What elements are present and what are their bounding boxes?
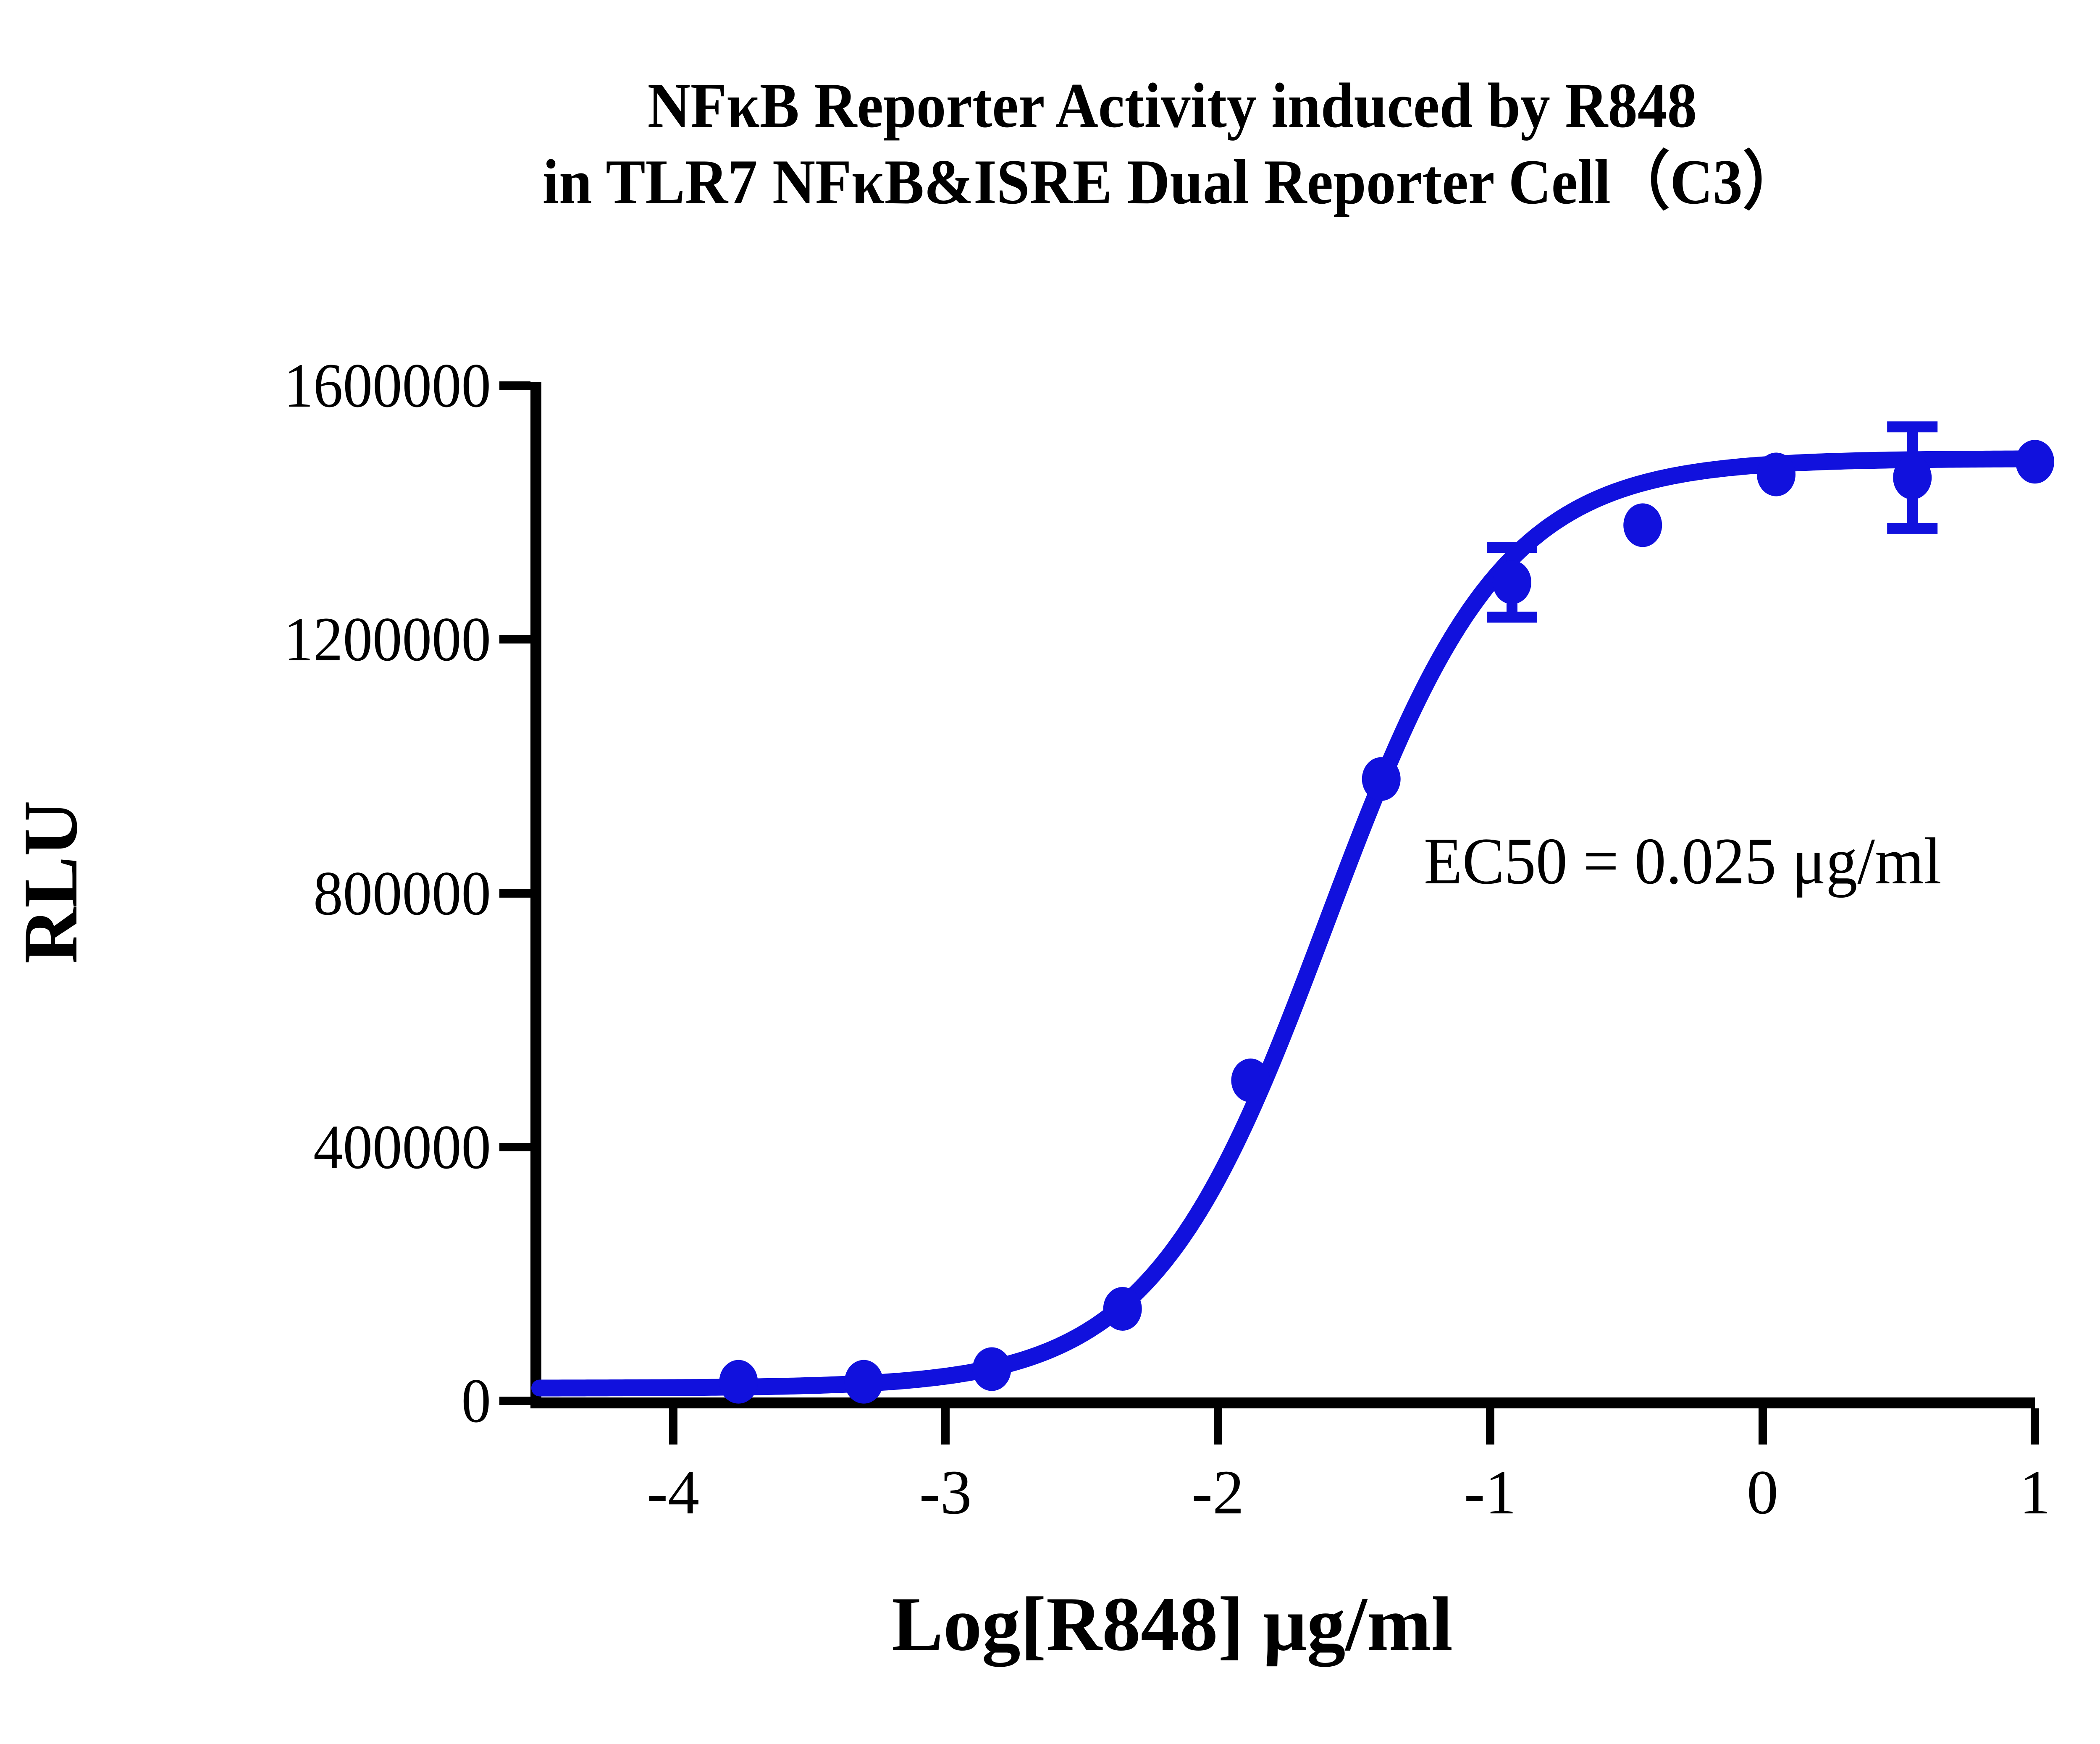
y-tick-label-0: 0	[462, 1369, 491, 1432]
y-tick-label-3: 1200000	[284, 608, 491, 671]
y-tick-label-1: 400000	[313, 1116, 491, 1179]
data-point-5	[1362, 757, 1401, 801]
chart-title: NFκB Reporter Activity induced by R848 i…	[0, 67, 2100, 221]
x-tick-4	[1759, 1408, 1767, 1445]
x-tick-label-5: 1	[2019, 1461, 2051, 1524]
data-point-10	[2016, 440, 2054, 483]
data-point-7	[1623, 503, 1662, 547]
y-tick-3	[499, 635, 530, 643]
x-tick-label-1: -3	[919, 1461, 972, 1524]
data-point-1	[845, 1360, 883, 1404]
x-tick-2	[1214, 1408, 1222, 1445]
fit-curve	[540, 459, 2035, 1388]
title-line-2: in TLR7 NFκB&ISRE Dual Reporter Cell（C3）	[82, 144, 2100, 220]
data-point-4	[1231, 1058, 1270, 1102]
title-line-1: NFκB Reporter Activity induced by R848	[82, 67, 2100, 144]
y-tick-label-4: 1600000	[284, 354, 491, 417]
y-tick-2	[499, 889, 530, 898]
x-axis-title: Log[R848] μg/ml	[0, 1579, 2100, 1668]
data-point-2	[972, 1347, 1011, 1391]
x-tick-1	[941, 1408, 950, 1445]
data-series-layer	[540, 386, 2035, 1401]
chart-figure: NFκB Reporter Activity induced by R848 i…	[0, 0, 2100, 1744]
x-tick-label-4: 0	[1747, 1461, 1778, 1524]
data-point-0	[719, 1360, 758, 1404]
y-tick-1	[499, 1143, 530, 1151]
plot-area: 040000080000012000001600000-4-3-2-101	[540, 386, 2035, 1401]
data-point-6	[1493, 560, 1531, 604]
x-tick-label-3: -1	[1464, 1461, 1517, 1524]
x-tick-5	[2031, 1408, 2039, 1445]
data-point-8	[1757, 452, 1795, 496]
data-point-3	[1103, 1287, 1142, 1331]
x-tick-label-2: -2	[1192, 1461, 1244, 1524]
y-axis-title: RLU	[6, 801, 95, 964]
x-tick-label-0: -4	[647, 1461, 699, 1524]
x-tick-0	[669, 1408, 677, 1445]
y-tick-label-2: 800000	[313, 862, 491, 925]
x-tick-3	[1486, 1408, 1494, 1445]
data-point-9	[1893, 456, 1932, 499]
y-tick-4	[499, 381, 530, 390]
y-tick-0	[499, 1397, 530, 1405]
